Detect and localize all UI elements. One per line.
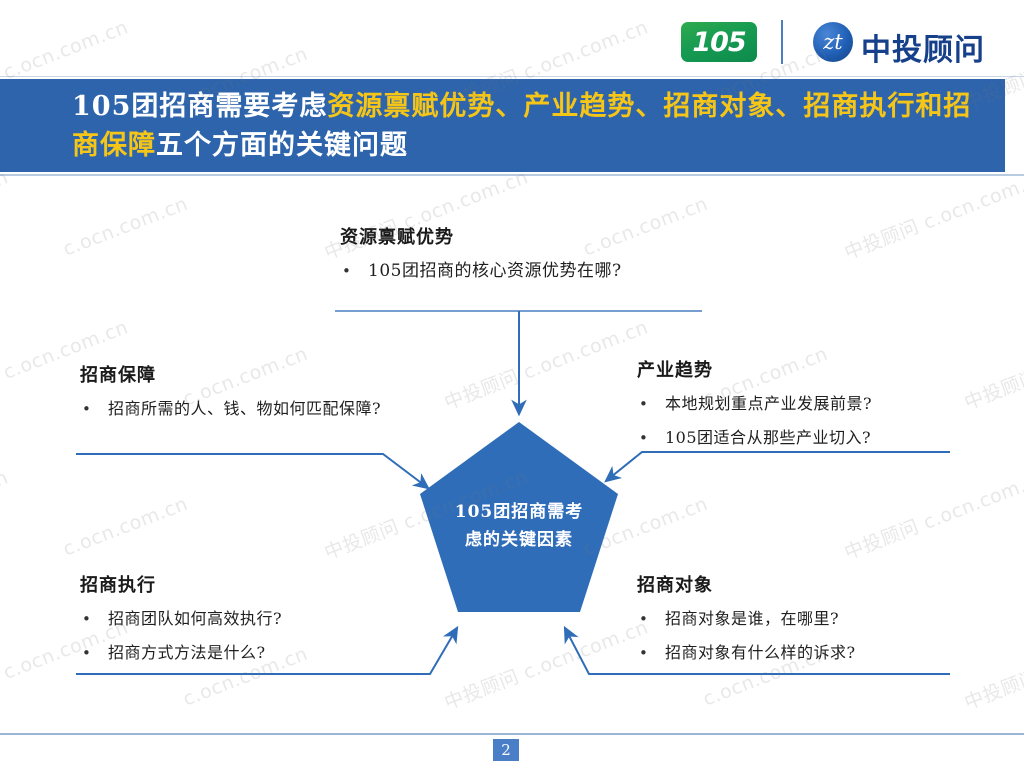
bullet-text: 招商团队如何高效执行?: [108, 605, 282, 633]
bullet-icon: •: [80, 605, 108, 633]
node-target-bullet-1: • 招商对象有什么样的诉求?: [637, 639, 987, 667]
node-industry-title: 产业趋势: [637, 356, 987, 382]
node-industry-bullet-1: • 105团适合从那些产业切入?: [637, 424, 987, 452]
bullet-text: 招商对象是谁，在哪里?: [665, 605, 839, 633]
bullet-text: 本地规划重点产业发展前景?: [665, 390, 872, 418]
node-investment-guarantee: 招商保障 • 招商所需的人、钱、物如何匹配保障?: [80, 361, 410, 429]
bullet-text: 招商对象有什么样的诉求?: [665, 639, 856, 667]
node-resource-title: 资源禀赋优势: [340, 223, 720, 249]
logo-105-icon: 105: [681, 22, 757, 62]
node-resource-bullet-0: • 105团招商的核心资源优势在哪?: [340, 257, 720, 285]
watermark-text: 中投顾问 c.ocn.com.cn: [320, 762, 532, 768]
bullet-icon: •: [637, 390, 665, 418]
page-title: 105团招商需要考虑资源禀赋优势、产业趋势、招商对象、招商执行和招商保障五个方面…: [72, 87, 982, 165]
header-logo-bar: 105 zt 中投顾问: [0, 0, 1024, 78]
node-guarantee-bullet-0: • 招商所需的人、钱、物如何匹配保障?: [80, 395, 410, 423]
bullet-icon: •: [637, 639, 665, 667]
node-target-bullet-0: • 招商对象是谁，在哪里?: [637, 605, 987, 633]
node-industry-trend: 产业趋势 • 本地规划重点产业发展前景? • 105团适合从那些产业切入?: [637, 356, 987, 458]
bullet-icon: •: [637, 605, 665, 633]
pentagon-label: 105团招商需考 虑的关键因素: [418, 498, 620, 554]
pentagon-label-line2: 虑的关键因素: [418, 526, 620, 554]
node-investment-execution: 招商执行 • 招商团队如何高效执行? • 招商方式方法是什么?: [80, 571, 410, 673]
bullet-icon: •: [340, 257, 368, 285]
bullet-text: 105团适合从那些产业切入?: [665, 424, 871, 452]
zhongtou-logo-icon: zt: [813, 22, 853, 62]
node-execute-title: 招商执行: [80, 571, 410, 597]
node-execute-bullet-0: • 招商团队如何高效执行?: [80, 605, 410, 633]
node-resource-advantage: 资源禀赋优势 • 105团招商的核心资源优势在哪?: [340, 223, 720, 291]
node-target-title: 招商对象: [637, 571, 987, 597]
node-investment-target: 招商对象 • 招商对象是谁，在哪里? • 招商对象有什么样的诉求?: [637, 571, 987, 673]
title-part-1: 105团招商需要考虑: [72, 91, 327, 122]
title-banner: 105团招商需要考虑资源禀赋优势、产业趋势、招商对象、招商执行和招商保障五个方面…: [0, 79, 1005, 172]
bullet-icon: •: [637, 424, 665, 452]
bullet-text: 招商方式方法是什么?: [108, 639, 266, 667]
page-number-badge: 2: [493, 739, 519, 761]
slide-canvas: 105 zt 中投顾问 105团招商需要考虑资源禀赋优势、产业趋势、招商对象、招…: [0, 0, 1024, 768]
zhongtou-logo-text: 中投顾问: [861, 25, 985, 69]
bullet-icon: •: [80, 639, 108, 667]
node-guarantee-title: 招商保障: [80, 361, 410, 387]
bullet-icon: •: [80, 395, 108, 423]
pentagon-diagram: 105团招商需考 虑的关键因素 资源禀赋优势 • 105团招商的核心资源优势在哪…: [0, 176, 1024, 732]
title-part-3: 五个方面的关键问题: [156, 130, 408, 161]
footer-rule: [0, 733, 1024, 735]
pentagon-label-line1: 105团招商需考: [418, 498, 620, 526]
watermark-text: 中投顾问 c.ocn.com.cn: [0, 762, 12, 768]
logo-divider: [781, 20, 783, 64]
center-pentagon: 105团招商需考 虑的关键因素: [418, 420, 620, 615]
watermark-text: 中投顾问 c.ocn.com.cn: [840, 762, 1024, 768]
node-execute-bullet-1: • 招商方式方法是什么?: [80, 639, 410, 667]
bullet-text: 招商所需的人、钱、物如何匹配保障?: [108, 395, 381, 423]
node-industry-bullet-0: • 本地规划重点产业发展前景?: [637, 390, 987, 418]
bullet-text: 105团招商的核心资源优势在哪?: [368, 257, 622, 285]
